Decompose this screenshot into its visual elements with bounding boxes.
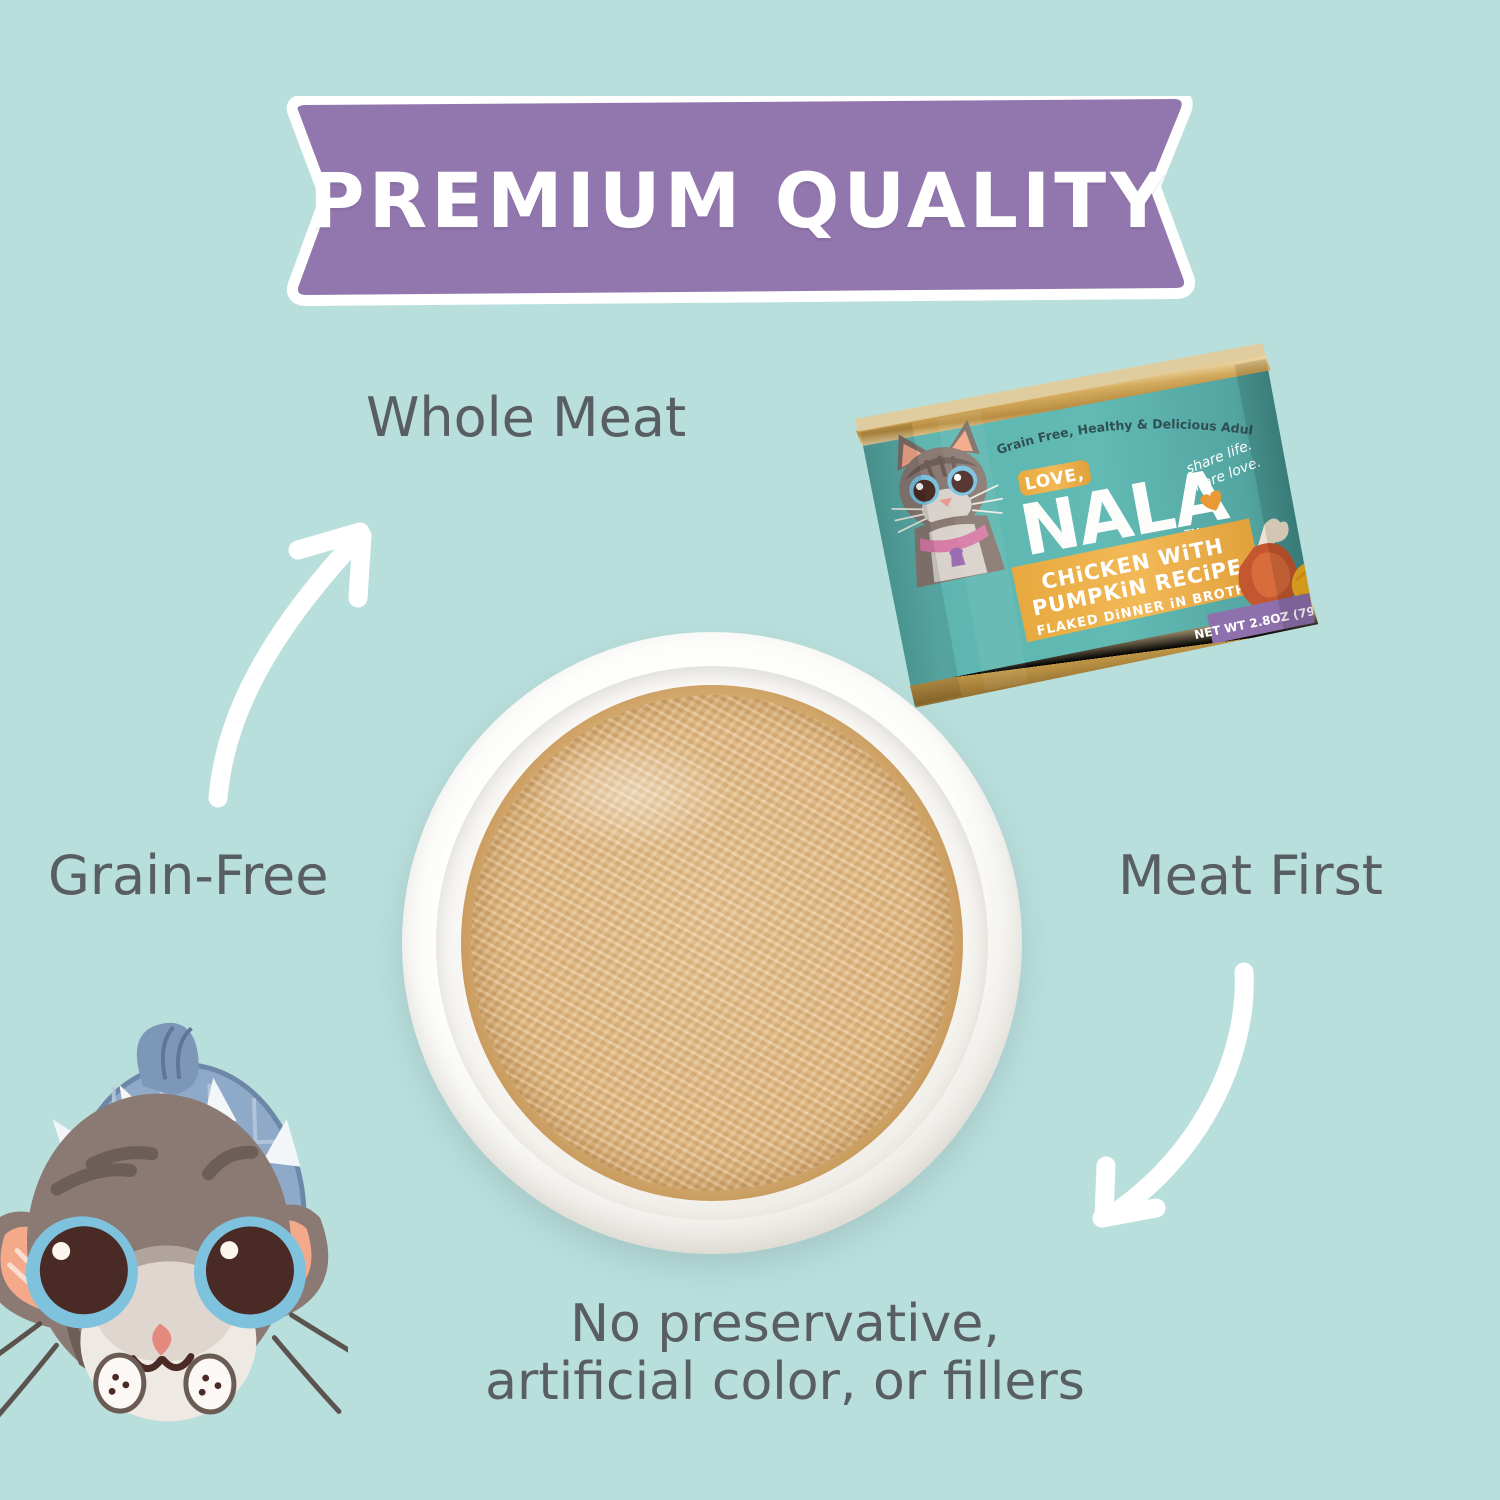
banner-title: PREMIUM QUALITY — [278, 96, 1200, 310]
arrow-up-right-icon — [178, 498, 404, 822]
mascot-clip — [0, 960, 360, 1500]
nala-mascot — [0, 986, 348, 1446]
broth-surface — [461, 685, 963, 1201]
product-can: Grain Free, Healthy & Delicious Adult Ca… — [837, 334, 1331, 742]
can-body: Grain Free, Healthy & Delicious Adult Ca… — [837, 334, 1331, 713]
feature-label-meat-first: Meat First — [1118, 846, 1383, 906]
feature-label-no-preservative: No preservative, artificial color, or fi… — [250, 1295, 1320, 1411]
infographic-canvas: PREMIUM QUALITY Whole Meat Grain-Free Me… — [0, 0, 1500, 1500]
feature-label-grain-free: Grain-Free — [48, 846, 328, 906]
arrow-down-left-icon — [1058, 928, 1294, 1254]
feature-label-whole-meat: Whole Meat — [366, 388, 686, 448]
broth-highlight — [531, 736, 732, 850]
no-preservative-line-1: No preservative, — [570, 1294, 1000, 1354]
premium-quality-banner: PREMIUM QUALITY — [278, 96, 1200, 310]
no-preservative-line-2: artificial color, or fillers — [250, 1353, 1320, 1411]
